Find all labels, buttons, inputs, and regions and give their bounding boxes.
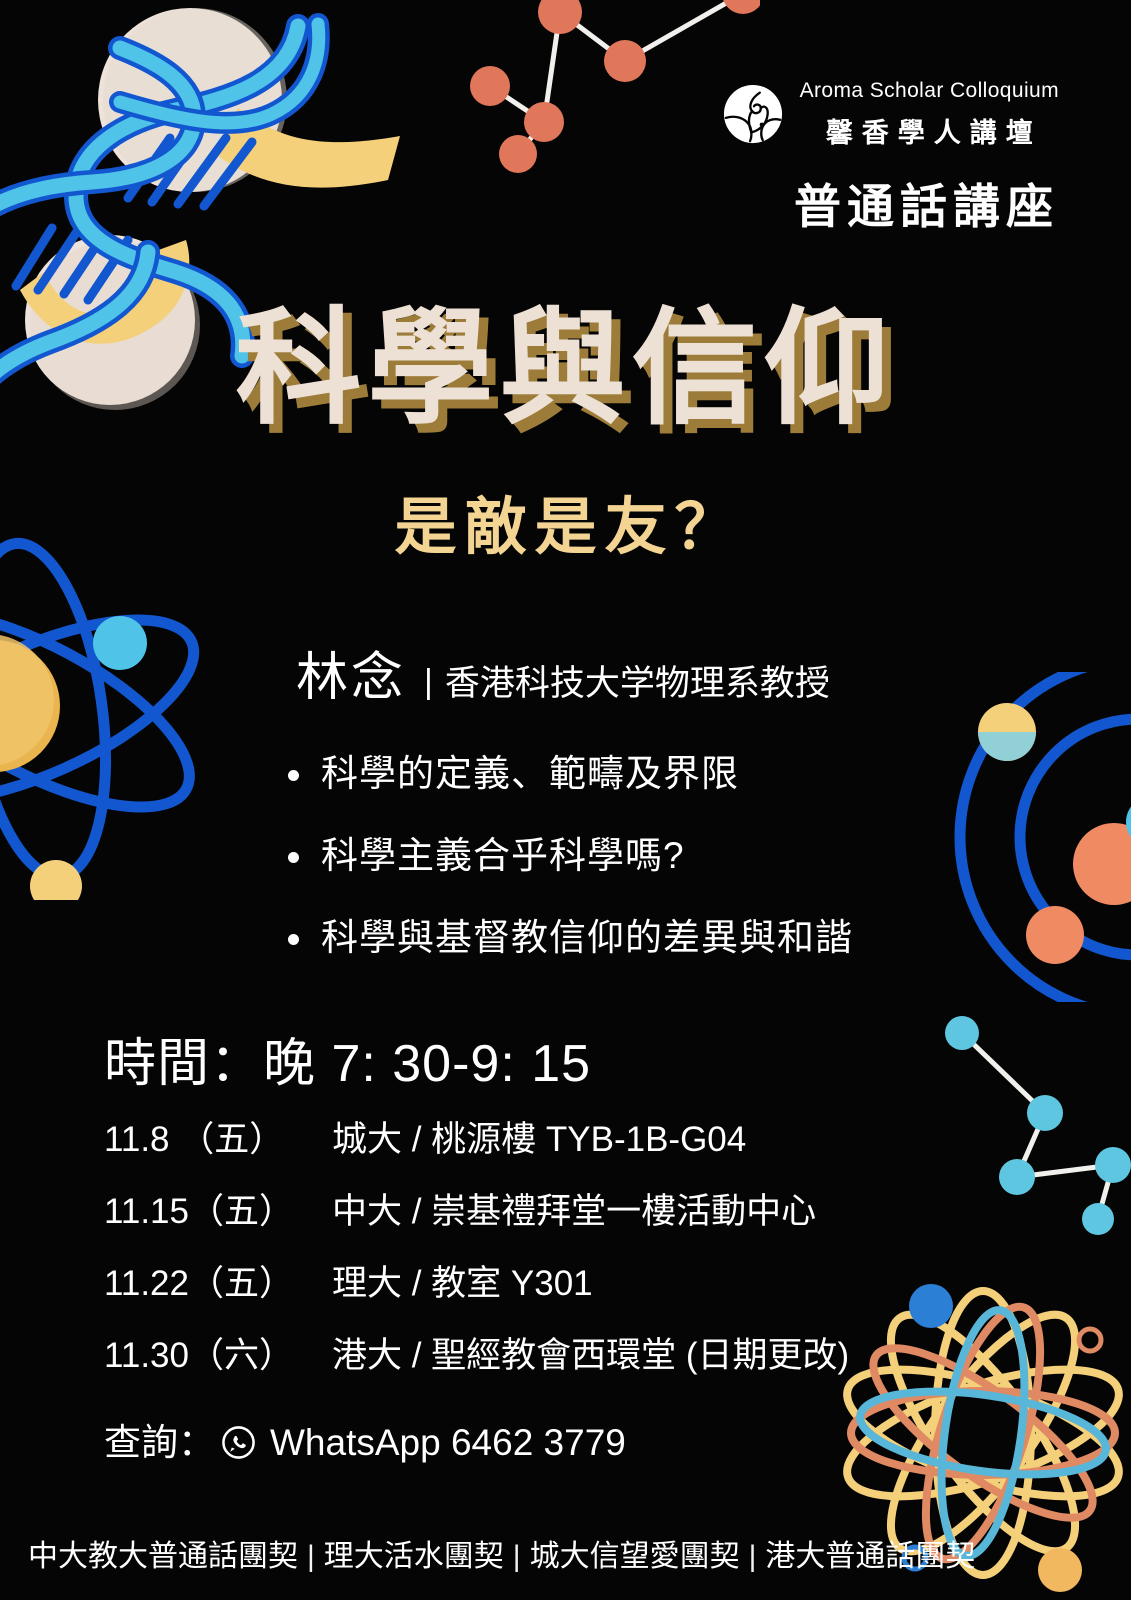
rose-emblem-icon	[722, 83, 784, 145]
brand-header: Aroma Scholar Colloquium 馨香學人講壇 普通話講座	[722, 78, 1059, 237]
schedule-date: 11.15（五）	[104, 1194, 332, 1229]
schedule-venue: 城大 / 桃源樓 TYB-1B-G04	[332, 1122, 746, 1157]
whatsapp-icon	[221, 1425, 256, 1460]
footer-separator: |	[749, 1542, 757, 1572]
table-row: 11.30（六） 港大 / 聖經教會西環堂 (日期更改)	[104, 1338, 934, 1373]
schedule-table: 11.8 （五） 城大 / 桃源樓 TYB-1B-G04 11.15（五） 中大…	[104, 1122, 934, 1410]
table-row: 11.22（五） 理大 / 教室 Y301	[104, 1266, 934, 1301]
brand-chinese-name: 馨香學人講壇	[817, 111, 1042, 150]
schedule-date: 11.30（六）	[104, 1338, 332, 1373]
organizer-name: 理大活水團契	[324, 1542, 504, 1572]
brand-english-name: Aroma Scholar Colloquium	[800, 78, 1059, 104]
language-badge: 普通話講座	[788, 168, 1059, 237]
speaker-separator: |	[424, 665, 433, 699]
speaker-line: 林念 | 香港科技大学物理系教授	[296, 652, 830, 704]
poster-subtitle: 是敵是友？	[0, 497, 1131, 559]
speaker-affiliation: 香港科技大学物理系教授	[445, 666, 830, 701]
schedule-venue: 港大 / 聖經教會西環堂 (日期更改)	[332, 1338, 849, 1373]
list-item: 科學的定義、範疇及界限	[288, 755, 853, 792]
brand-row: Aroma Scholar Colloquium 馨香學人講壇	[722, 78, 1059, 150]
schedule-venue: 理大 / 教室 Y301	[332, 1266, 593, 1301]
poster-canvas: Aroma Scholar Colloquium 馨香學人講壇 普通話講座 科學…	[0, 0, 1131, 1600]
time-heading: 時間：晚 7: 30-9: 15	[104, 1038, 591, 1090]
brand-text: Aroma Scholar Colloquium 馨香學人講壇	[800, 78, 1059, 150]
topic-text: 科學主義合乎科學嗎?	[321, 837, 685, 874]
speaker-name: 林念	[296, 652, 406, 704]
bullet-dot	[288, 934, 299, 945]
organizer-name: 港大普通話團契	[765, 1542, 975, 1572]
constellation-cyan-illustration	[920, 985, 1131, 1235]
contact-line[interactable]: 查詢： WhatsApp 6462 3779	[104, 1424, 626, 1461]
list-item: 科學與基督教信仰的差異與和諧	[288, 919, 853, 956]
organizer-footer: 中大教大普通話團契 | 理大活水團契 | 城大信望愛團契 | 港大普通話團契	[28, 1542, 975, 1572]
footer-separator: |	[307, 1542, 315, 1572]
poster-title: 科學與信仰	[0, 308, 1131, 434]
schedule-date: 11.22（五）	[104, 1266, 332, 1301]
organizer-name: 城大信望愛團契	[530, 1542, 740, 1572]
list-item: 科學主義合乎科學嗎?	[288, 837, 853, 874]
contact-label: 查詢：	[104, 1424, 215, 1461]
organizer-name: 中大教大普通話團契	[28, 1542, 298, 1572]
planet-orbit-right-illustration	[906, 672, 1131, 1002]
schedule-date: 11.8 （五）	[104, 1122, 332, 1157]
constellation-coral-illustration	[440, 0, 760, 198]
bullet-dot	[288, 852, 299, 863]
topic-text: 科學與基督教信仰的差異與和諧	[321, 919, 853, 956]
atom-orbit-left-illustration	[0, 520, 248, 900]
bullet-dot	[288, 770, 299, 781]
table-row: 11.15（五） 中大 / 崇基禮拜堂一樓活動中心	[104, 1194, 934, 1229]
contact-value[interactable]: WhatsApp 6462 3779	[270, 1424, 626, 1461]
topic-list: 科學的定義、範疇及界限 科學主義合乎科學嗎? 科學與基督教信仰的差異與和諧	[288, 755, 853, 1001]
footer-separator: |	[513, 1542, 521, 1572]
topic-text: 科學的定義、範疇及界限	[321, 755, 739, 792]
schedule-venue: 中大 / 崇基禮拜堂一樓活動中心	[332, 1194, 816, 1229]
table-row: 11.8 （五） 城大 / 桃源樓 TYB-1B-G04	[104, 1122, 934, 1157]
